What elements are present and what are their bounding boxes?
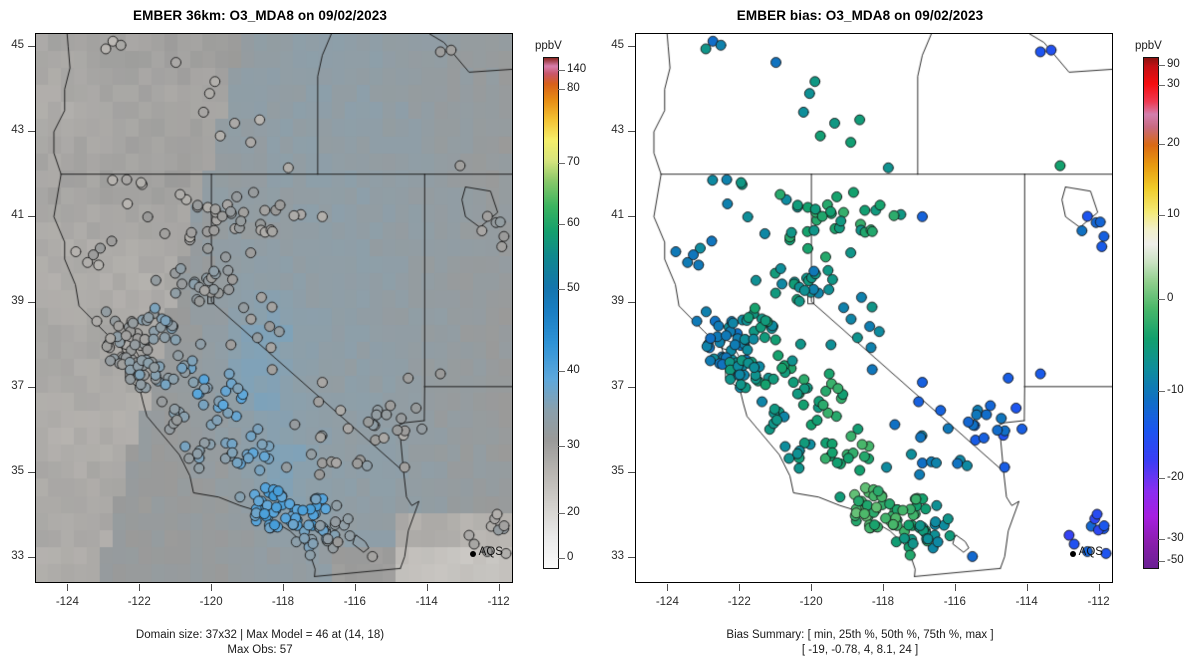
- y-axis-tick: [628, 46, 635, 47]
- colorbar-tick-label: 20: [1167, 137, 1180, 149]
- aqs-legend-label: AQS: [479, 546, 503, 558]
- colorbar-tick: [558, 70, 565, 71]
- x-axis-label: -118: [263, 596, 303, 608]
- x-axis-label: -120: [791, 596, 831, 608]
- colorbar-tick-label: -10: [1167, 384, 1184, 396]
- x-axis-tick: [811, 584, 812, 591]
- colorbar-tick-label: 70: [567, 156, 580, 168]
- colorbar-tick-label: 0: [567, 551, 573, 563]
- x-axis-tick: [1099, 584, 1100, 591]
- x-axis-tick: [667, 584, 668, 591]
- y-axis-tick: [28, 557, 35, 558]
- y-axis-tick: [628, 216, 635, 217]
- colorbar-tick-label: 30: [567, 439, 580, 451]
- colorbar-tick-label: -30: [1167, 532, 1184, 544]
- colorbar-tick-label: 20: [567, 506, 580, 518]
- map-plot-bias[interactable]: AQS: [635, 33, 1113, 583]
- y-axis-tick: [28, 472, 35, 473]
- aqs-legend-dot: [470, 551, 476, 557]
- page-title-bias: EMBER bias: O3_MDA8 on 09/02/2023: [600, 8, 1120, 23]
- x-axis-label: -112: [1079, 596, 1119, 608]
- colorbar-tick: [558, 446, 565, 447]
- x-axis-label: -116: [335, 596, 375, 608]
- x-axis-tick: [1027, 584, 1028, 591]
- colorbar-tick-label: 30: [1167, 78, 1180, 90]
- panel-bias: EMBER bias: O3_MDA8 on 09/02/2023 AQS 45…: [600, 0, 1200, 672]
- y-axis-label: 41: [600, 209, 624, 221]
- colorbar-tick: [1158, 299, 1165, 300]
- y-axis-label: 43: [0, 124, 24, 136]
- y-axis-label: 35: [600, 465, 624, 477]
- x-axis-label: -114: [1007, 596, 1047, 608]
- colorbar-tick-label: 40: [567, 364, 580, 376]
- panel-model: EMBER 36km: O3_MDA8 on 09/02/2023 AQS 45…: [0, 0, 600, 672]
- colorbar-gradient: [543, 57, 559, 569]
- colorbar-tick-label: 140: [567, 63, 586, 75]
- y-axis-tick: [28, 46, 35, 47]
- colorbar-tick: [558, 289, 565, 290]
- colorbar-tick-label: -50: [1167, 554, 1184, 566]
- x-axis-label: -124: [47, 596, 87, 608]
- y-axis-tick: [628, 131, 635, 132]
- y-axis-tick: [628, 472, 635, 473]
- colorbar-tick: [1158, 85, 1165, 86]
- colorbar-units-label: ppbV: [535, 40, 562, 52]
- colorbar-tick: [558, 513, 565, 514]
- colorbar-tick: [558, 224, 565, 225]
- y-axis-label: 37: [0, 380, 24, 392]
- aqs-legend-label-bias: AQS: [1079, 546, 1103, 558]
- y-axis-label: 33: [600, 550, 624, 562]
- colorbar-tick: [558, 371, 565, 372]
- caption-line-2: Max Obs: 57: [0, 643, 520, 658]
- colorbar-tick: [558, 89, 565, 90]
- y-axis-tick: [628, 557, 635, 558]
- x-axis-tick: [211, 584, 212, 591]
- x-axis-tick: [427, 584, 428, 591]
- y-axis-label: 37: [600, 380, 624, 392]
- x-axis-tick: [355, 584, 356, 591]
- map-plot-model[interactable]: AQS: [35, 33, 513, 583]
- colorbar-tick: [1158, 65, 1165, 66]
- colorbar-tick: [558, 163, 565, 164]
- x-axis-label: -122: [119, 596, 159, 608]
- caption-line-2-bias: [ -19, -0.78, 4, 8.1, 24 ]: [600, 643, 1120, 658]
- y-axis-label: 43: [600, 124, 624, 136]
- bias-points-layer: [636, 34, 1112, 582]
- caption-line-1: Domain size: 37x32 | Max Model = 46 at (…: [0, 628, 520, 643]
- x-axis-label: -120: [191, 596, 231, 608]
- model-raster: [36, 34, 512, 582]
- y-axis-label: 33: [0, 550, 24, 562]
- y-axis-label: 45: [600, 39, 624, 51]
- y-axis-tick: [628, 302, 635, 303]
- y-axis-label: 39: [0, 295, 24, 307]
- colorbar-units-label-bias: ppbV: [1135, 40, 1162, 52]
- x-axis-tick: [499, 584, 500, 591]
- colorbar-tick-label: 60: [567, 217, 580, 229]
- caption-line-1-bias: Bias Summary: [ min, 25th %, 50th %, 75t…: [600, 628, 1120, 643]
- x-axis-label: -116: [935, 596, 975, 608]
- x-axis-label: -114: [407, 596, 447, 608]
- x-axis-tick: [67, 584, 68, 591]
- y-axis-label: 39: [600, 295, 624, 307]
- y-axis-tick: [28, 216, 35, 217]
- x-axis-label: -118: [863, 596, 903, 608]
- x-axis-tick: [955, 584, 956, 591]
- page-title: EMBER 36km: O3_MDA8 on 09/02/2023: [0, 8, 520, 23]
- y-axis-tick: [28, 302, 35, 303]
- y-axis-tick: [628, 387, 635, 388]
- colorbar-tick: [1158, 144, 1165, 145]
- colorbar-tick: [1158, 561, 1165, 562]
- colorbar-tick-label: 80: [567, 82, 580, 94]
- y-axis-tick: [28, 387, 35, 388]
- colorbar-tick: [1158, 215, 1165, 216]
- colorbar-tick-label: -20: [1167, 471, 1184, 483]
- colorbar-tick: [1158, 478, 1165, 479]
- colorbar-tick-label: 0: [1167, 292, 1173, 304]
- colorbar-tick: [558, 558, 565, 559]
- x-axis-tick: [139, 584, 140, 591]
- y-axis-label: 45: [0, 39, 24, 51]
- x-axis-label: -124: [647, 596, 687, 608]
- x-axis-label: -112: [479, 596, 519, 608]
- colorbar-tick-label: 50: [567, 282, 580, 294]
- colorbar-tick-label: 10: [1167, 208, 1180, 220]
- x-axis-label: -122: [719, 596, 759, 608]
- colorbar-tick: [1158, 539, 1165, 540]
- model-caption: Domain size: 37x32 | Max Model = 46 at (…: [0, 628, 520, 658]
- x-axis-tick: [883, 584, 884, 591]
- colorbar-gradient-bias: [1143, 57, 1159, 569]
- figure-root: EMBER 36km: O3_MDA8 on 09/02/2023 AQS 45…: [0, 0, 1200, 672]
- colorbar-tick: [1158, 391, 1165, 392]
- y-axis-label: 41: [0, 209, 24, 221]
- aqs-legend-dot-bias: [1070, 551, 1076, 557]
- y-axis-tick: [28, 131, 35, 132]
- x-axis-tick: [283, 584, 284, 591]
- colorbar-tick-label: 90: [1167, 58, 1180, 70]
- y-axis-label: 35: [0, 465, 24, 477]
- x-axis-tick: [739, 584, 740, 591]
- bias-caption: Bias Summary: [ min, 25th %, 50th %, 75t…: [600, 628, 1120, 658]
